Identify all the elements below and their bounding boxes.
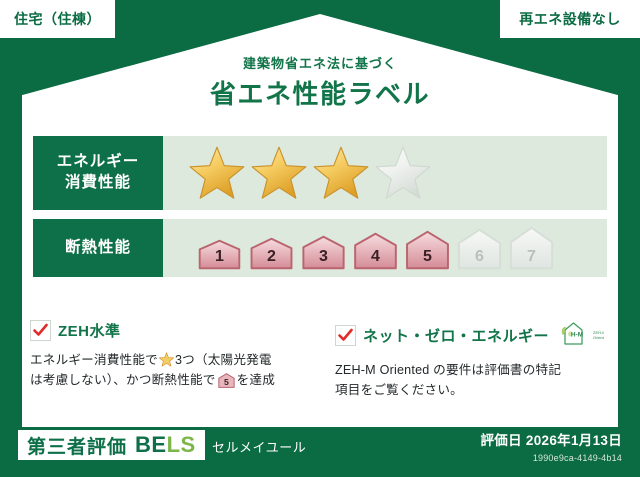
insulation-level-value: 3 <box>299 248 348 266</box>
house-badge-icon: 2 <box>247 237 296 270</box>
zeh-standard-body: エネルギー消費性能で3つ（太陽光発電 は考慮しない）、かつ断熱性能で5を達成 <box>30 350 307 395</box>
zeh-body-text-2: 3つ（太陽光発電 <box>175 353 272 367</box>
star-icon <box>189 146 245 200</box>
insulation-level-value: 1 <box>195 248 244 266</box>
energy-performance-label: 住宅（住棟） 再エネ設備なし 建築物省エネ法に基づく 省エネ性能ラベル エネルギ… <box>0 0 640 477</box>
insulation-performance-label: 断熱性能 <box>33 219 163 277</box>
label-title-sub: 建築物省エネ法に基づく <box>0 56 640 72</box>
zeh-standard-header: ZEH水準 <box>30 320 307 341</box>
star-icon <box>251 146 307 200</box>
label-title: 建築物省エネ法に基づく 省エネ性能ラベル <box>0 56 640 110</box>
insulation-performance-value: 1 2 3 4 <box>163 219 607 277</box>
insulation-level-badges: 1 2 3 4 <box>189 226 556 270</box>
insulation-level-value: 6 <box>455 248 504 266</box>
zeh-m-oriented-logo-icon: H-M ZEH-M Oriented <box>558 320 604 351</box>
red-check-icon <box>335 325 356 346</box>
zeh-standard-block: ZEH水準 エネルギー消費性能で3つ（太陽光発電 は考慮しない）、かつ断熱性能で… <box>30 320 307 401</box>
bels-en-part1: BE <box>135 432 167 457</box>
renewable-energy-tag: 再エネ設備なし <box>500 0 640 38</box>
evaluation-date: 評価日 2026年1月13日 <box>480 429 622 449</box>
insulation-level-value: 7 <box>507 248 556 266</box>
building-type-tag: 住宅（住棟） <box>0 0 115 38</box>
bels-badge: 第三者評価 BELS <box>18 430 205 460</box>
insulation-performance-label-line1: 断熱性能 <box>65 238 131 259</box>
house-badge-icon-empty: 7 <box>507 226 556 270</box>
footer-divider <box>22 424 618 427</box>
zeh-body-text-3: は考慮しない）、かつ断熱性能で <box>30 373 216 387</box>
zeh-standard-title: ZEH水準 <box>58 320 121 341</box>
energy-performance-label: エネルギー 消費性能 <box>33 136 163 210</box>
star-icon <box>159 352 174 367</box>
star-rating <box>189 146 431 200</box>
building-type-tag-label: 住宅（住棟） <box>14 9 101 29</box>
house-badge-icon-inline: 5 <box>218 373 235 394</box>
bels-en-label: BELS <box>135 432 196 458</box>
house-badge-icon: 3 <box>299 235 348 270</box>
net-zero-energy-body: ZEH-M Oriented の要件は評価書の特記 項目をご覧ください。 <box>335 360 612 401</box>
insulation-performance-row: 断熱性能 1 2 <box>33 219 607 277</box>
star-icon-empty <box>375 146 431 200</box>
label-title-main: 省エネ性能ラベル <box>0 79 640 110</box>
bels-en-part2: LS <box>167 432 196 457</box>
performance-rows: エネルギー 消費性能 <box>33 136 607 286</box>
bels-jp-label: 第三者評価 <box>27 432 127 459</box>
house-badge-icon: 1 <box>195 239 244 270</box>
house-badge-icon: 5 <box>403 230 452 270</box>
net-zero-energy-block: ネット・ゼロ・エネルギー H-M ZEH-M Oriented ZEH-M Or… <box>327 320 612 401</box>
evaluation-id: 1990e9ca-4149-4b14 <box>480 453 622 463</box>
zeh-body-text-4: を達成 <box>237 373 275 387</box>
evaluation-info: 評価日 2026年1月13日 1990e9ca-4149-4b14 <box>480 429 622 463</box>
svg-text:H-M: H-M <box>571 332 583 339</box>
owner-name: セルメイユール <box>212 437 306 456</box>
insulation-level-value: 4 <box>351 248 400 266</box>
star-icon <box>313 146 369 200</box>
house-badge-icon-empty: 6 <box>455 228 504 270</box>
house-badge-icon: 4 <box>351 232 400 270</box>
svg-text:5: 5 <box>224 377 229 387</box>
criteria-section: ZEH水準 エネルギー消費性能で3つ（太陽光発電 は考慮しない）、かつ断熱性能で… <box>30 320 612 401</box>
renewable-energy-tag-label: 再エネ設備なし <box>519 9 621 29</box>
energy-performance-label-line1: エネルギー <box>57 152 140 173</box>
insulation-level-value: 5 <box>403 248 452 266</box>
energy-performance-value <box>163 136 607 210</box>
zeh-body-text-1: エネルギー消費性能で <box>30 353 158 367</box>
energy-performance-row: エネルギー 消費性能 <box>33 136 607 210</box>
net-zero-energy-header: ネット・ゼロ・エネルギー H-M ZEH-M Oriented <box>335 320 612 351</box>
label-footer: 第三者評価 BELS セルメイユール 評価日 2026年1月13日 1990e9… <box>0 424 640 477</box>
svg-text:Oriented: Oriented <box>593 335 604 340</box>
insulation-level-value: 2 <box>247 248 296 266</box>
net-zero-body-line1: ZEH-M Oriented の要件は評価書の特記 <box>335 363 561 377</box>
energy-performance-label-line2: 消費性能 <box>65 173 131 194</box>
svg-text:ZEH-M: ZEH-M <box>593 330 604 335</box>
red-check-icon <box>30 320 51 341</box>
net-zero-energy-title: ネット・ゼロ・エネルギー <box>363 325 549 346</box>
net-zero-body-line2: 項目をご覧ください。 <box>335 383 463 397</box>
